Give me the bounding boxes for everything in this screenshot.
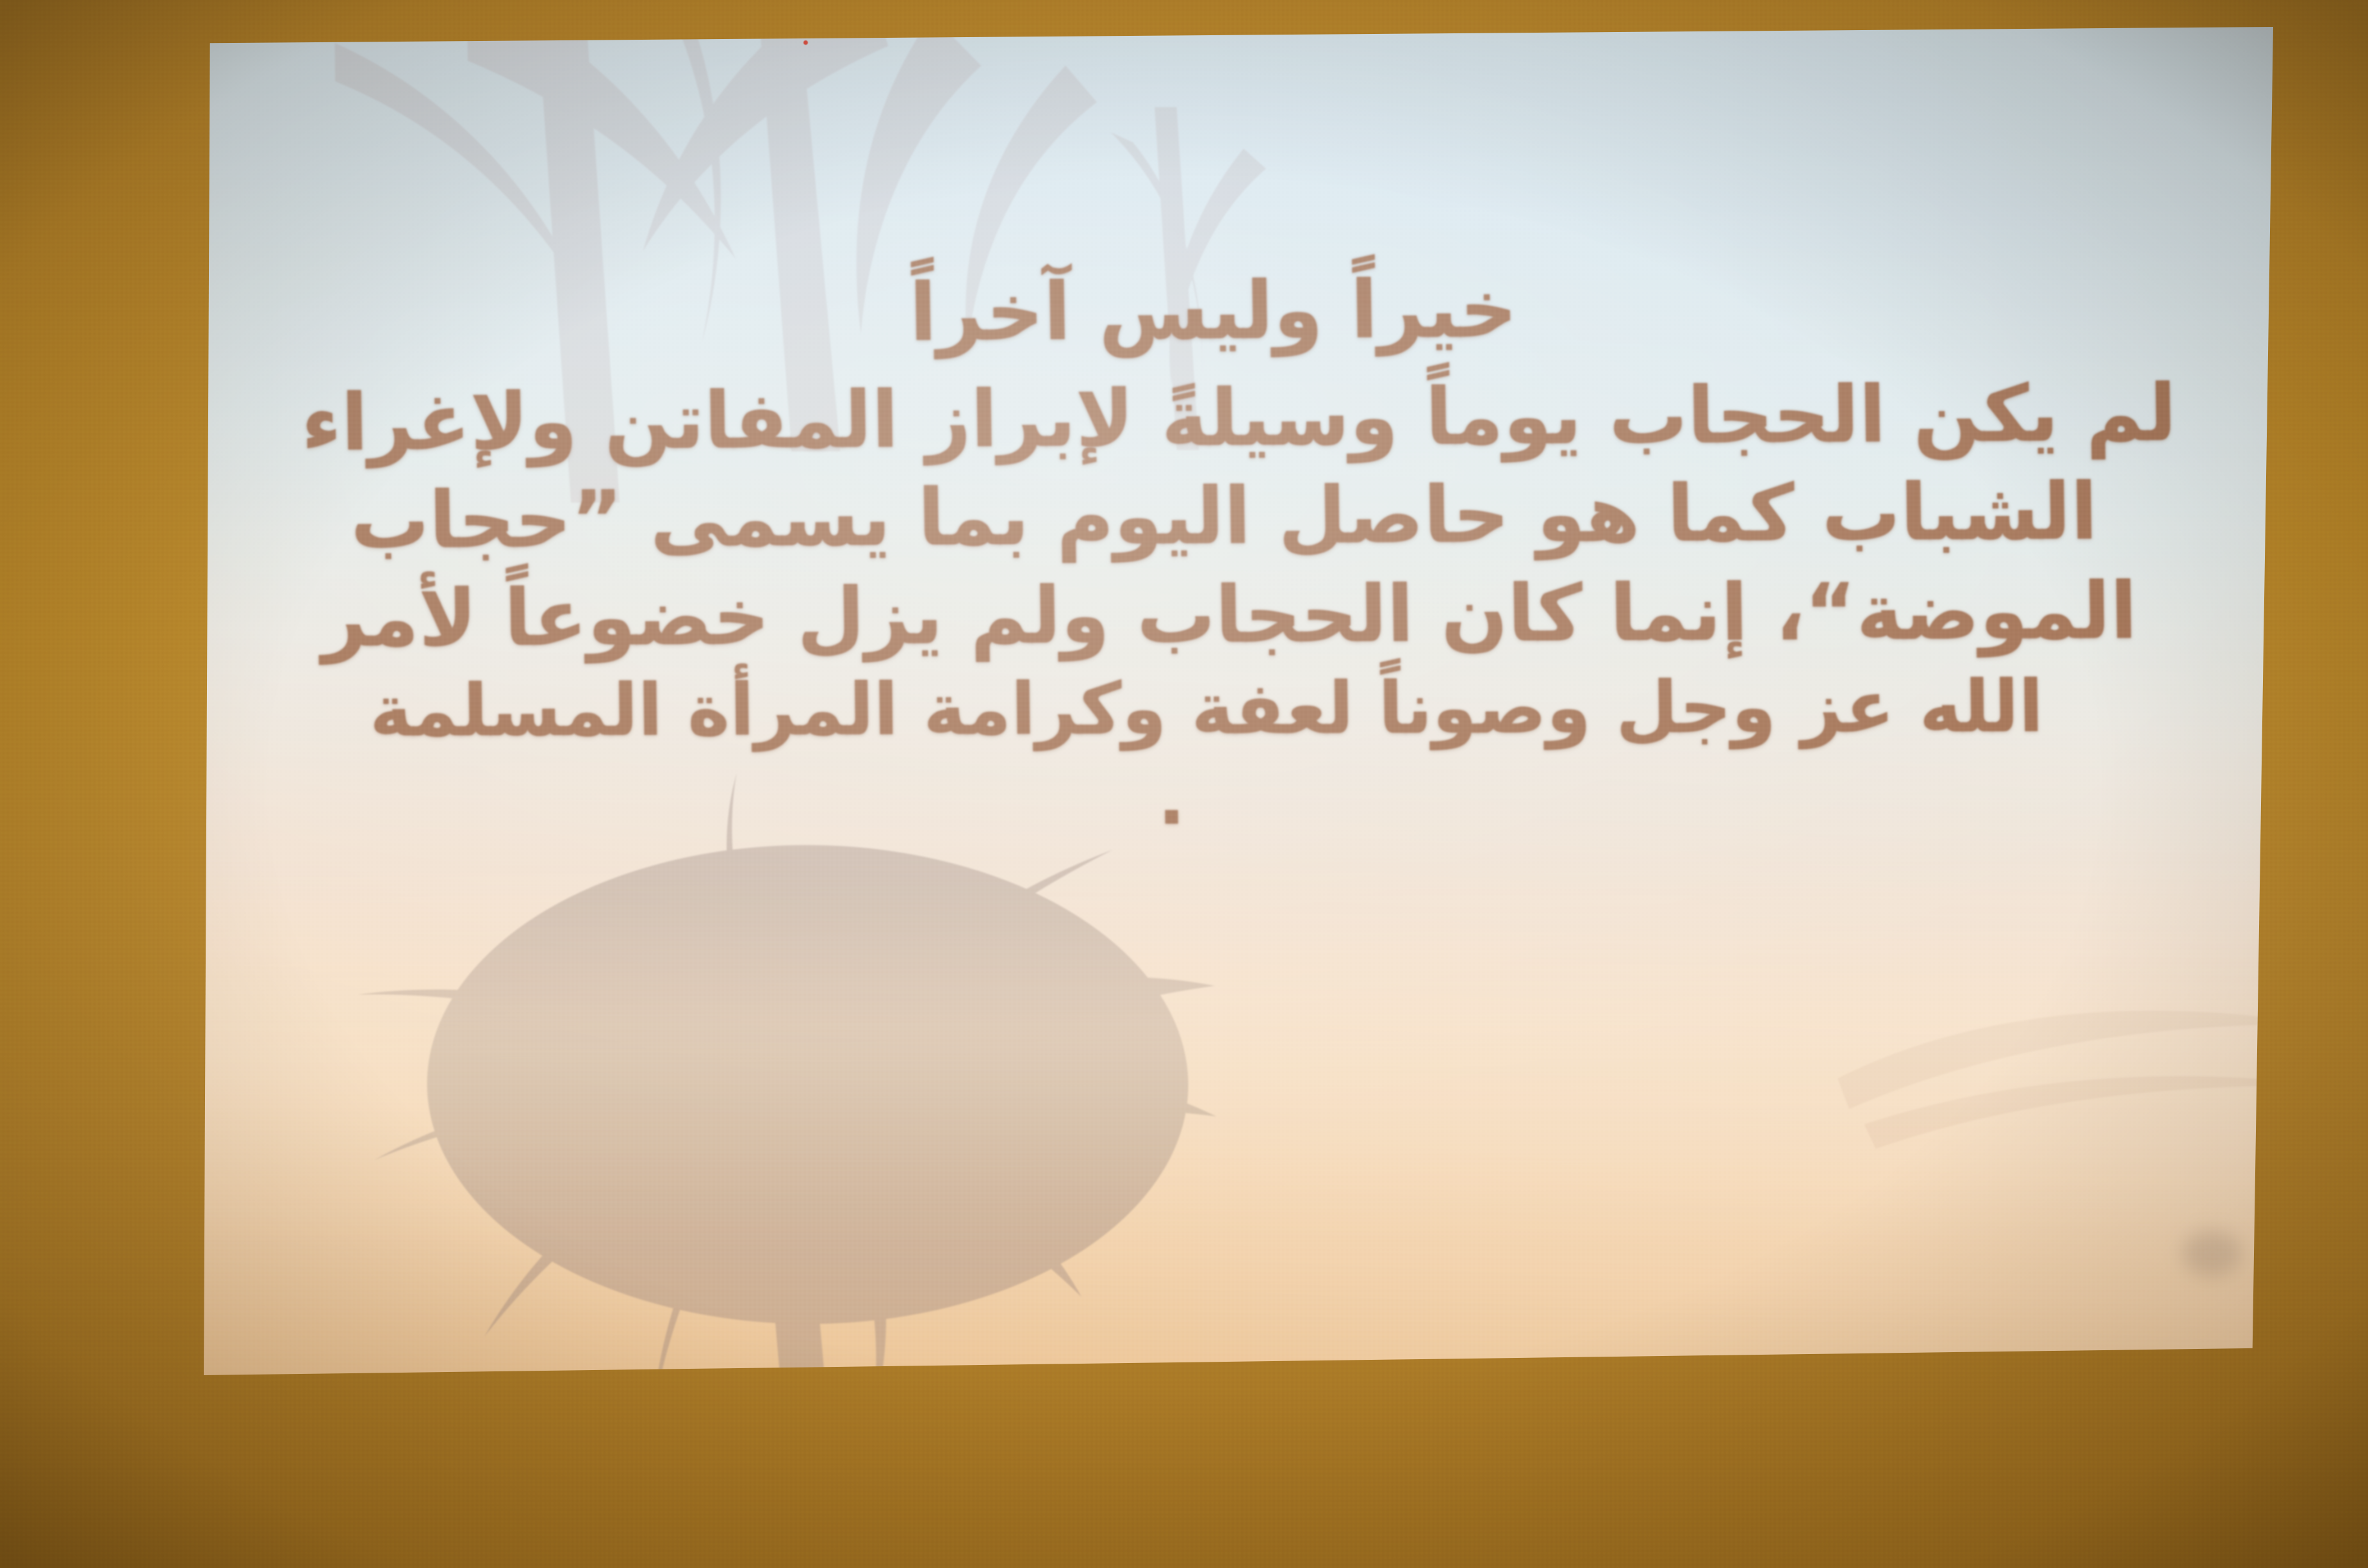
photograph-of-wall: خيراً وليس آخراً لم يكن الحجاب يوماً وسي…	[0, 0, 2368, 1568]
slide-text-block: خيراً وليس آخراً لم يكن الحجاب يوماً وسي…	[226, 258, 2248, 848]
laser-pointer-dot	[803, 40, 808, 45]
slide-body-line-4: الله عز وجل وصوناً لعفة وكرامة المرأة ال…	[199, 662, 2214, 757]
slide-surface: خيراً وليس آخراً لم يكن الحجاب يوماً وسي…	[158, 0, 2319, 1403]
slide-body-line-2: الشباب كما هو حاصل اليوم بما يسمى ”حجاب	[217, 462, 2232, 571]
palm-tree-silhouette-bottom-icon	[340, 770, 1463, 1402]
slide-body-line-5: .	[164, 753, 2178, 846]
projector-glare-band	[158, 864, 2319, 1235]
slide-body-line-1: لم يكن الحجاب يوماً وسيلةً لإبراز المفات…	[231, 363, 2246, 472]
palm-frond-silhouette-right-icon	[1798, 892, 2319, 1201]
screen-smudge	[2182, 1230, 2242, 1277]
slide-title: خيراً وليس آخراً	[206, 256, 2221, 368]
slide-body-line-3: الموضة“، إنما كان الحجاب ولم يزل خضوعاً …	[222, 561, 2237, 669]
projected-slide-region: خيراً وليس آخراً لم يكن الحجاب يوماً وسي…	[204, 27, 2273, 1375]
